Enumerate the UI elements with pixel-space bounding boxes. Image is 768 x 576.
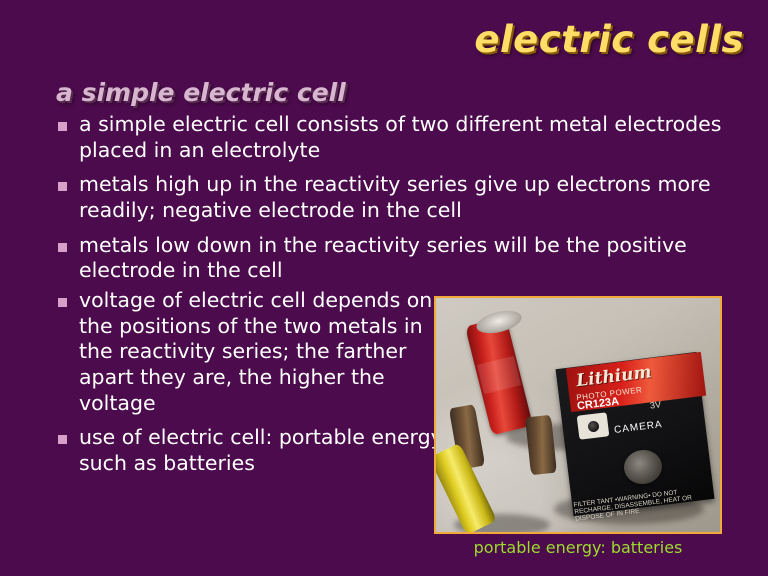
list-item: a simple electric cell consists of two d…: [58, 112, 748, 163]
battery-photo: Lithium PHOTO POWER CR123A 3V CAMERA FIL…: [434, 296, 722, 534]
list-item-text: voltage of electric cell depends on the …: [79, 288, 443, 416]
bullet-marker-icon: [58, 298, 67, 307]
bullet-list-bottom: voltage of electric cell depends on the …: [58, 288, 443, 485]
list-item-text: metals high up in the reactivity series …: [79, 172, 748, 223]
slide-subtitle: a simple electric cell: [56, 78, 346, 107]
bullet-marker-icon: [58, 122, 67, 131]
list-item-text: a simple electric cell consists of two d…: [79, 112, 748, 163]
battery-cell-yellow: [434, 443, 497, 534]
bullet-marker-icon: [58, 243, 67, 252]
list-item-text: metals low down in the reactivity series…: [79, 233, 748, 284]
list-item: metals low down in the reactivity series…: [58, 233, 748, 284]
bullet-list-top: a simple electric cell consists of two d…: [58, 112, 748, 293]
slide: electric cells a simple electric cell a …: [0, 0, 768, 576]
list-item: metals high up in the reactivity series …: [58, 172, 748, 223]
list-item: use of electric cell: portable energy su…: [58, 425, 443, 476]
battery-voltage-text: 3V: [649, 399, 661, 410]
list-item: voltage of electric cell depends on the …: [58, 288, 443, 416]
page-title: electric cells: [474, 18, 744, 61]
bullet-marker-icon: [58, 435, 67, 444]
bullet-marker-icon: [58, 182, 67, 191]
image-caption: portable energy: batteries: [434, 538, 722, 557]
photo-background: Lithium PHOTO POWER CR123A 3V CAMERA FIL…: [436, 298, 720, 532]
list-item-text: use of electric cell: portable energy su…: [79, 425, 443, 476]
